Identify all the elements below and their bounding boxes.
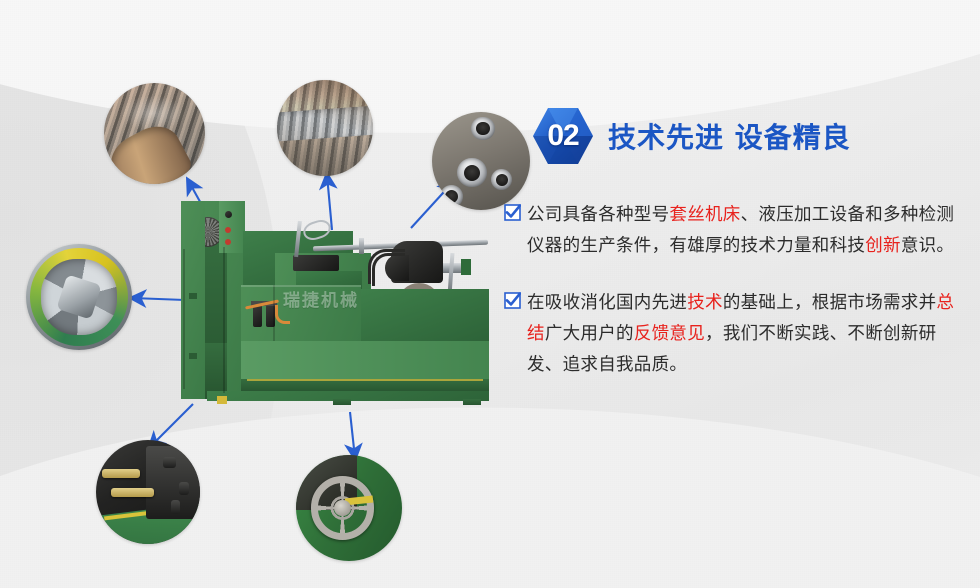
list-item: 在吸收消化国内先进技术的基础上，根据市场需求并总结广大用户的反馈意见，我们不断实…: [504, 288, 970, 381]
callout-threaded-rod-left: [104, 83, 205, 184]
body-text: 意识。: [901, 236, 954, 256]
threaded-rod-photo: [104, 83, 205, 184]
handwheel-photo: [296, 455, 402, 561]
bullet-list: 公司具备各种型号套丝机床、液压加工设备和多种检测仪器的生产条件，有雄厚的技术力量…: [500, 200, 970, 381]
highlighted-term: 反馈意见: [634, 324, 705, 344]
bullet-text-2: 在吸收消化国内先进技术的基础上，根据市场需求并总结广大用户的反馈意见，我们不断实…: [527, 288, 959, 381]
thread-rolling-machine-photo: 瑞捷机械: [163, 193, 493, 423]
body-text: 广大用户的: [545, 324, 634, 344]
callout-die-head: [26, 244, 132, 350]
threaded-rod-photo: [277, 80, 373, 176]
checkbox-checked-icon: [504, 292, 521, 309]
highlighted-term: 套丝机床: [669, 205, 740, 225]
section-headline: 02 技术先进 设备精良: [500, 100, 970, 172]
list-item: 公司具备各种型号套丝机床、液压加工设备和多种检测仪器的生产条件，有雄厚的技术力量…: [504, 200, 970, 262]
machine-watermark: 瑞捷机械: [283, 289, 403, 313]
callout-threaded-rod-top: [277, 80, 373, 176]
die-head-photo: [26, 244, 132, 350]
body-text: 的基础上，根据市场需求并: [723, 293, 937, 313]
body-text: 在吸收消化国内先进: [527, 293, 687, 313]
body-text: 公司具备各种型号: [527, 205, 669, 225]
content-panel: 02 技术先进 设备精良 公司具备各种型号套丝机床、液压加工设备和多种检测仪器的…: [500, 100, 970, 407]
badge-number: 02: [532, 105, 594, 167]
highlighted-term: 技术: [687, 293, 723, 313]
hydraulic-valve-photo: [96, 440, 200, 544]
promo-banner: 瑞捷机械: [0, 0, 980, 588]
bullet-text-1: 公司具备各种型号套丝机床、液压加工设备和多种检测仪器的生产条件，有雄厚的技术力量…: [527, 200, 959, 262]
headline-title: 技术先进 设备精良: [608, 116, 851, 156]
callout-hydraulic-valve: [96, 440, 200, 544]
hexagon-badge: 02: [532, 105, 594, 167]
checkbox-checked-icon: [504, 204, 521, 221]
highlighted-term: 创新: [865, 236, 901, 256]
callout-handwheel: [296, 455, 402, 561]
